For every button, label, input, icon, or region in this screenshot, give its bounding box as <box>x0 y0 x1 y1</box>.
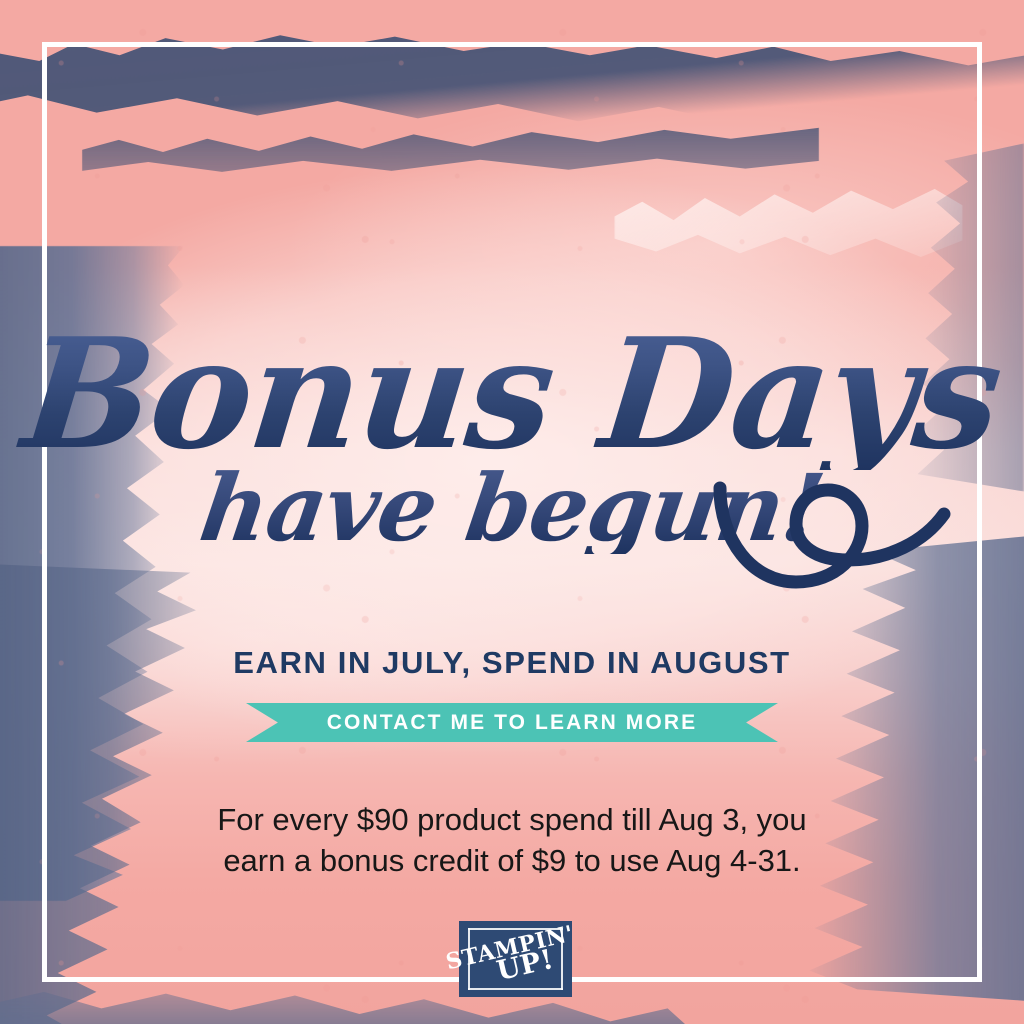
poster-content: Bonus Days have begun! EARN IN JULY, SPE… <box>0 0 1024 1024</box>
headline-block: Bonus Days have begun! <box>0 318 1024 554</box>
headline-primary: Bonus Days <box>0 318 1024 470</box>
cta-ribbon-label: CONTACT ME TO LEARN MORE <box>327 711 697 735</box>
promo-poster: Bonus Days have begun! EARN IN JULY, SPE… <box>0 0 1024 1024</box>
body-copy: For every $90 product spend till Aug 3, … <box>0 800 1024 882</box>
cta-ribbon-button[interactable]: CONTACT ME TO LEARN MORE <box>246 703 778 742</box>
subtitle: EARN IN JULY, SPEND IN AUGUST <box>0 645 1024 681</box>
headline-secondary: have begun! <box>0 462 1024 554</box>
body-copy-line-1: For every $90 product spend till Aug 3, … <box>0 800 1024 841</box>
body-copy-line-2: earn a bonus credit of $9 to use Aug 4-3… <box>0 841 1024 882</box>
logo-wordmark: STAMPIN' UP! <box>452 909 579 1008</box>
stampin-up-logo: STAMPIN' UP! <box>459 921 572 997</box>
